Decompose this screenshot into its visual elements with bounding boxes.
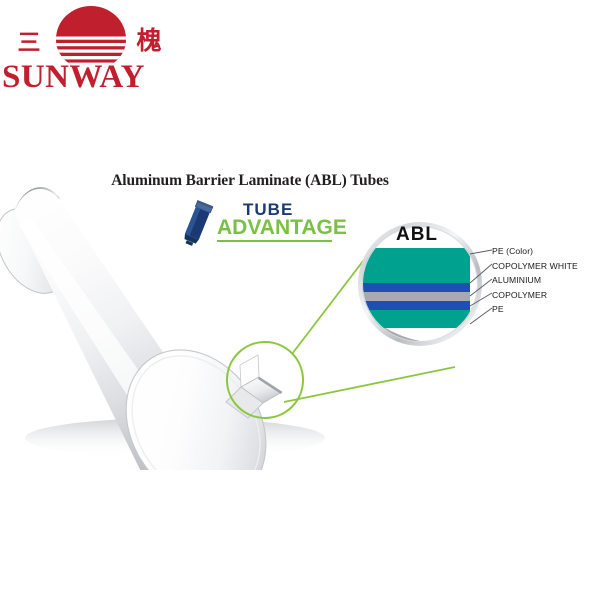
brand-chinese-char-right: 槐 [128,21,170,61]
layer-label-copolymer-white: COPOLYMER WHITE [492,261,578,271]
brand-chinese-char-left: 三 [8,26,50,60]
layer-label-copolymer: COPOLYMER [492,290,547,300]
layer-label-aluminium: ALUMINIUM [492,275,541,285]
brand-logo: 三 槐 SUNWAY [0,0,200,110]
aluminum-tube-illustration [0,187,294,470]
layer-label-pe-color: PE (Color) [492,246,533,256]
layer-aluminium [360,292,470,301]
layer-copolymer [360,301,470,310]
layer-pe-color [360,248,470,283]
callout-leader-line-bottom [284,367,455,402]
layer-copolymer-white [360,283,470,292]
page-canvas: 三 槐 SUNWAY Aluminum Barrier Laminate (AB… [0,0,600,600]
magnifier-caption: ABL [379,224,455,246]
brand-wordmark: SUNWAY [2,58,152,96]
layer-label-pe: PE [492,304,504,314]
layer-label-list: PE (Color) COPOLYMER WHITE ALUMINIUM COP… [492,246,600,336]
